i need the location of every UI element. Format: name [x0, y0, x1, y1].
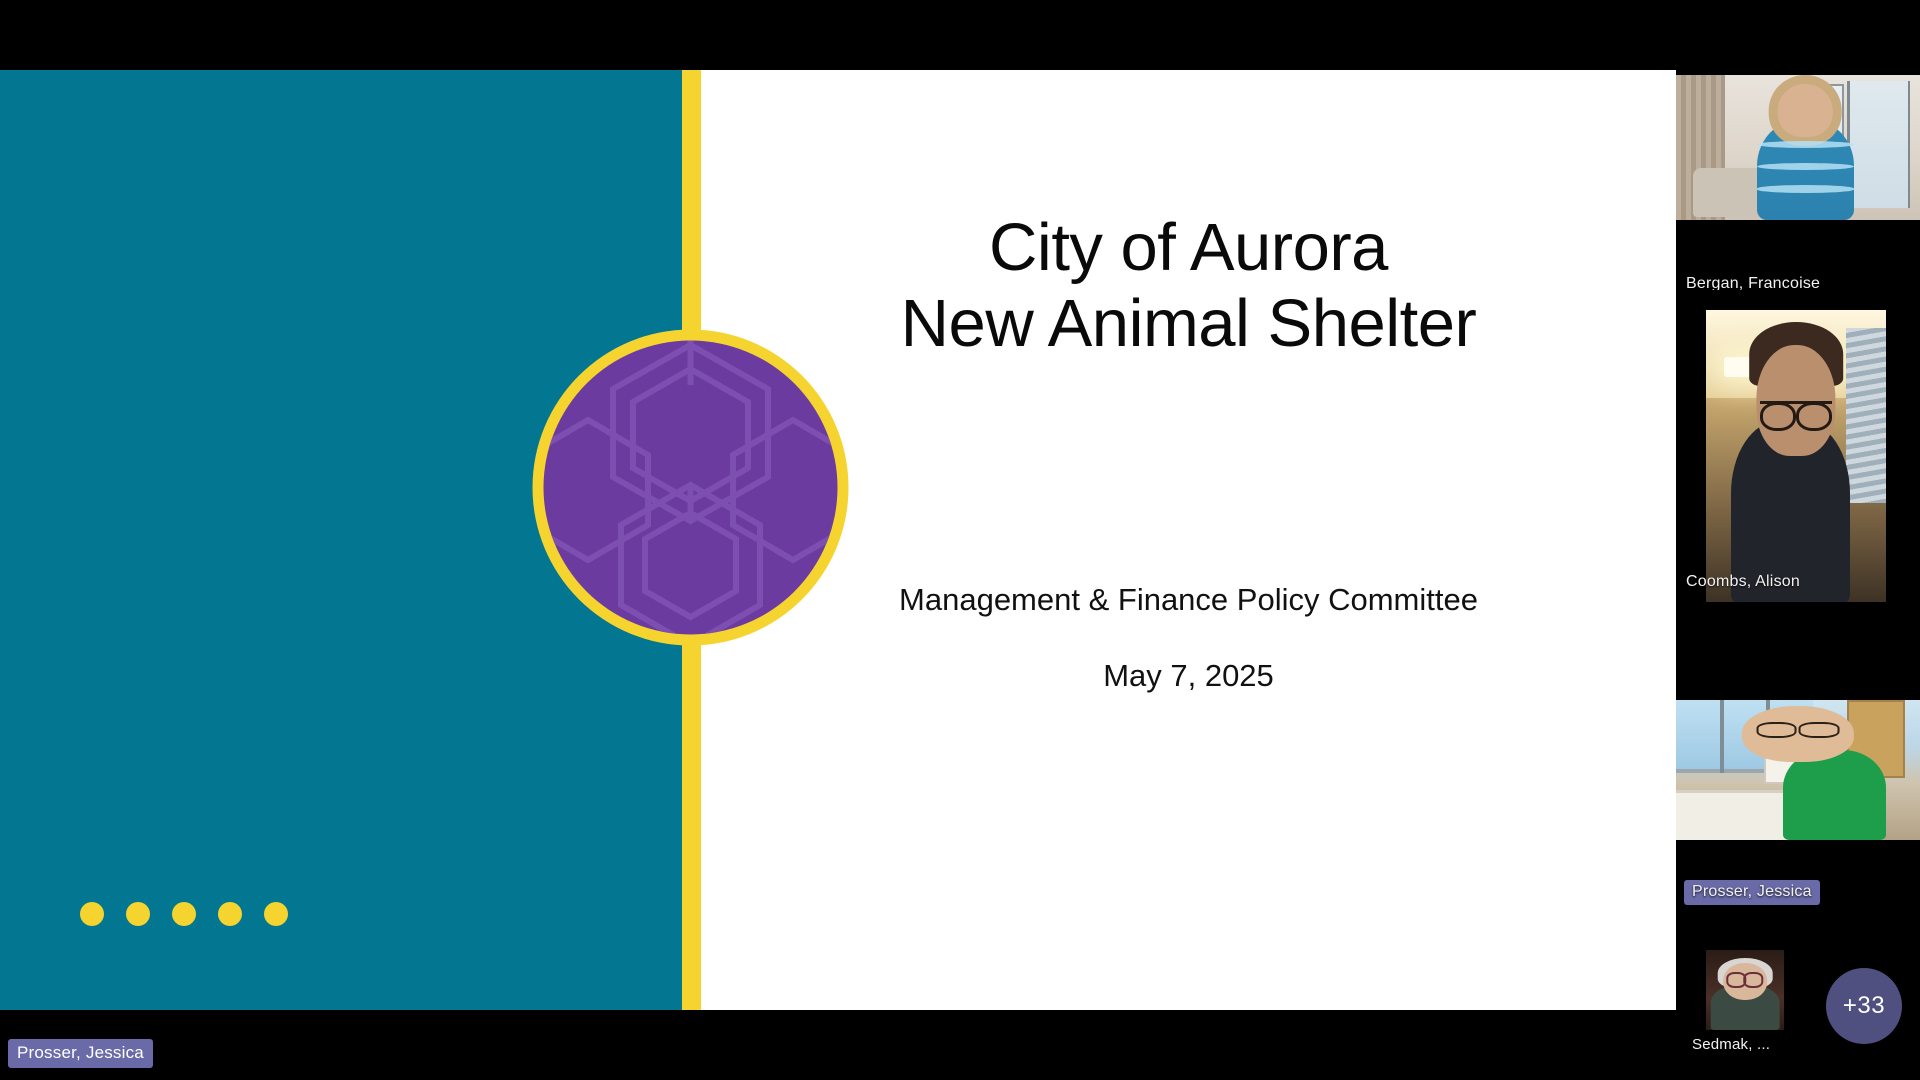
dot-5 [264, 902, 288, 926]
letterbox-top [0, 0, 1676, 70]
active-presenter-name-badge: Prosser, Jessica [8, 1039, 153, 1068]
participant-name-coombs: Coombs, Alison [1686, 573, 1800, 591]
overflow-participants-badge[interactable]: +33 [1826, 968, 1902, 1044]
participant-name-bergan: Bergan, Francoise [1686, 275, 1820, 290]
slide-date: May 7, 2025 [701, 658, 1676, 694]
video-feed-prosser [1676, 700, 1920, 840]
dot-1 [80, 902, 104, 926]
dot-4 [218, 902, 242, 926]
participant-name-prosser: Prosser, Jessica [1684, 880, 1820, 905]
participant-name-sedmak: Sedmak, ... [1692, 1036, 1770, 1053]
letterbox-bottom [0, 1010, 1676, 1080]
dot-2 [126, 902, 150, 926]
video-feed-bergan [1676, 75, 1920, 220]
participant-tile-prosser[interactable]: Prosser, Jessica [1676, 700, 1920, 930]
screen-share-meeting-view: City of Aurora New Animal Shelter Manage… [0, 0, 1920, 1080]
dot-3 [172, 902, 196, 926]
video-feed-sedmak [1706, 950, 1784, 1030]
participant-tile-coombs[interactable]: Coombs, Alison [1676, 290, 1920, 610]
slide-subtitle: Management & Finance Policy Committee [701, 582, 1676, 618]
participant-tile-sedmak[interactable]: Sedmak, ... [1680, 950, 1800, 1060]
slide-title: City of Aurora New Animal Shelter [701, 210, 1676, 361]
participant-tile-bergan[interactable]: Bergan, Francoise [1676, 0, 1920, 290]
participant-filmstrip[interactable]: Bergan, Francoise Coombs, Alison [1676, 0, 1920, 1080]
video-feed-coombs [1706, 310, 1886, 602]
slide-decorative-dots [80, 902, 288, 926]
shared-presentation-slide[interactable]: City of Aurora New Animal Shelter Manage… [0, 70, 1676, 1010]
